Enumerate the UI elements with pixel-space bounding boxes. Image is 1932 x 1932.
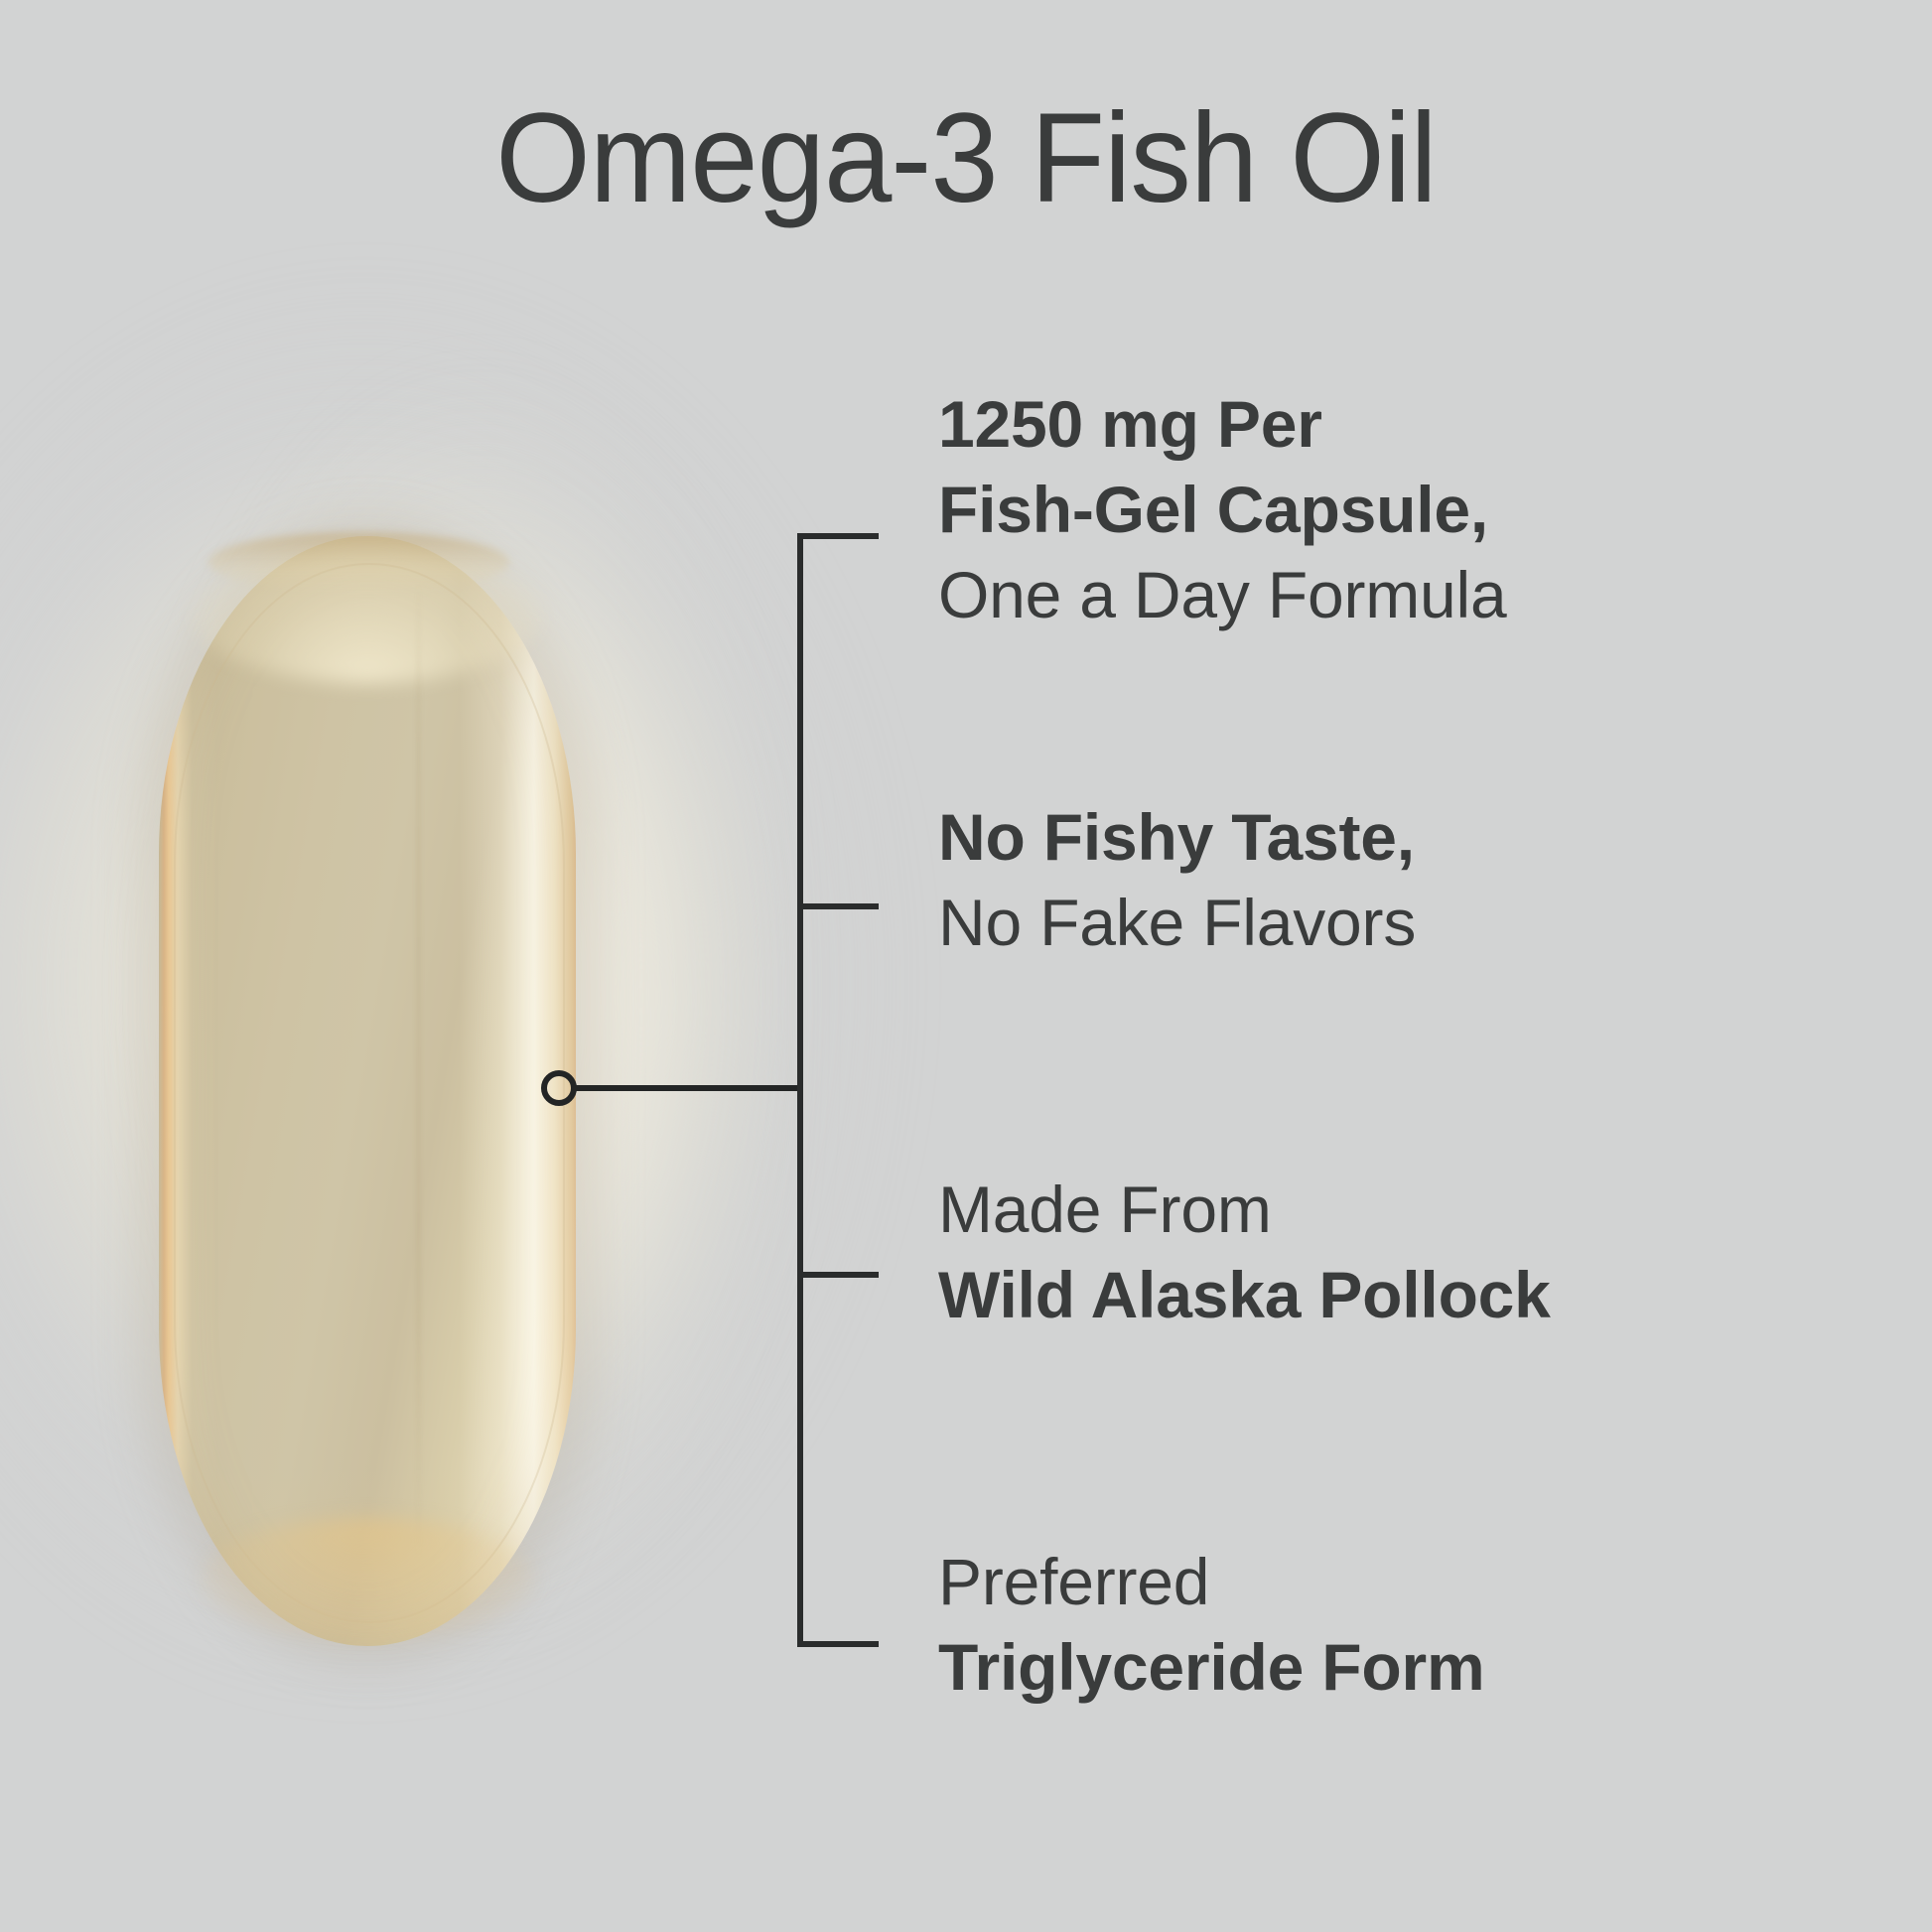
- callout-source-line1: Made From: [938, 1167, 1931, 1252]
- capsule-top-shading: [208, 532, 508, 593]
- softgel-capsule-image: [159, 536, 576, 1646]
- product-infographic: Omega-3 Fish Oil 1250 mg Per Fish-Gel Ca…: [0, 0, 1932, 1932]
- callout-form-line1: Preferred: [938, 1539, 1931, 1624]
- callout-dosage-line1: 1250 mg Per: [938, 381, 1931, 467]
- callout-dosage: 1250 mg Per Fish-Gel Capsule, One a Day …: [938, 381, 1931, 637]
- callout-leader-stem: [576, 1085, 802, 1091]
- callout-leader-spine: [797, 533, 803, 1647]
- capsule-backdrop-glow: [0, 268, 933, 1698]
- callout-source-line2: Wild Alaska Pollock: [938, 1252, 1931, 1337]
- callout-tick-4: [797, 1641, 879, 1647]
- callout-tick-3: [797, 1272, 879, 1278]
- capsule-bottom-highlight: [201, 1518, 534, 1640]
- callout-list: 1250 mg Per Fish-Gel Capsule, One a Day …: [938, 0, 1931, 1932]
- capsule-drop-shadow: [137, 520, 600, 1664]
- callout-tick-2: [797, 903, 879, 909]
- callout-taste-line1: No Fishy Taste,: [938, 794, 1931, 880]
- callout-form: Preferred Triglyceride Form: [938, 1539, 1931, 1710]
- capsule-body: [159, 536, 576, 1646]
- callout-tick-1: [797, 533, 879, 539]
- capsule-inner-contour: [174, 563, 566, 1623]
- capsule-inner-glow: [89, 367, 784, 1628]
- callout-dosage-line3: One a Day Formula: [938, 552, 1931, 637]
- callout-taste-line2: No Fake Flavors: [938, 880, 1931, 965]
- callout-source: Made From Wild Alaska Pollock: [938, 1167, 1931, 1337]
- callout-origin-dot-icon: [541, 1070, 577, 1106]
- capsule-top-highlight: [193, 549, 543, 682]
- capsule-seam-line: [417, 581, 420, 1602]
- callout-dosage-line2: Fish-Gel Capsule,: [938, 467, 1931, 552]
- callout-form-line2: Triglyceride Form: [938, 1624, 1931, 1710]
- callout-taste: No Fishy Taste, No Fake Flavors: [938, 794, 1931, 965]
